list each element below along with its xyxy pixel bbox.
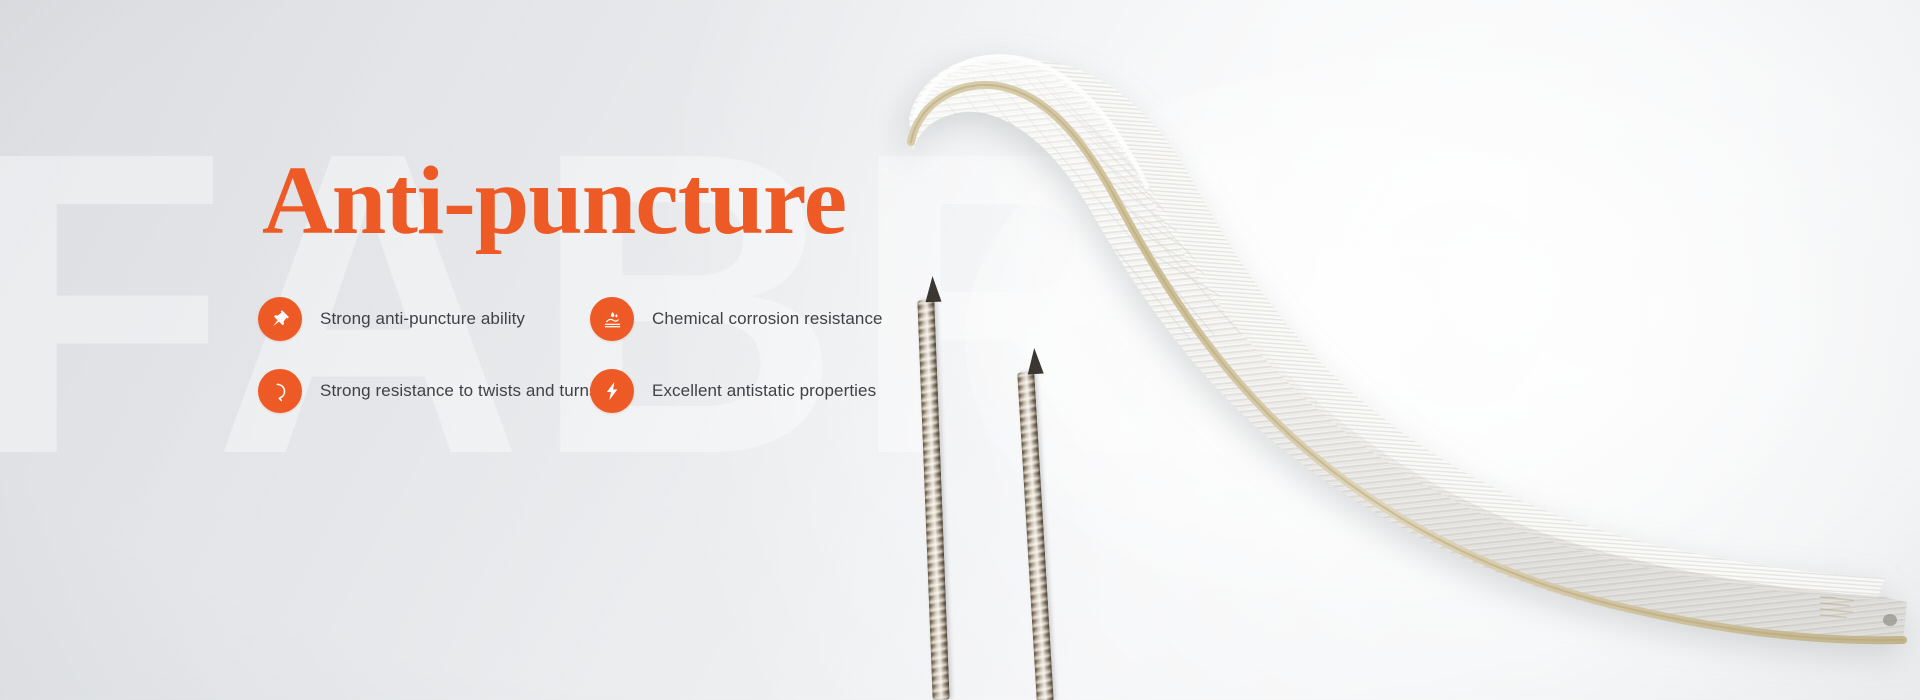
lightning-bolt-icon (590, 369, 634, 413)
feature-label: Strong anti-puncture ability (320, 309, 525, 329)
product-image (845, 0, 1920, 700)
pushpin-icon (258, 297, 302, 341)
feature-item: Strong resistance to twists and turns (258, 355, 590, 427)
sole-top-highlight (915, 57, 1147, 186)
feature-list: Strong anti-puncture ability Chemical co… (258, 283, 938, 427)
woven-sole (845, 0, 1920, 700)
sole-body (909, 55, 1907, 641)
sole-print-marking (1820, 596, 1854, 618)
feature-label: Chemical corrosion resistance (652, 309, 883, 329)
sole-fan-lines (941, 70, 1517, 480)
feature-item: Excellent antistatic properties (590, 355, 922, 427)
page-title: Anti-puncture (262, 152, 846, 252)
feature-item: Chemical corrosion resistance (590, 283, 922, 355)
product-glow (965, 60, 1845, 620)
sole-tail-weave (1315, 350, 1851, 578)
nail-right-tip (1026, 348, 1044, 375)
rotate-arrow-icon (258, 369, 302, 413)
sole-edge-line (911, 85, 1903, 640)
sole-shading (909, 55, 1907, 641)
sole-edge-binding (911, 85, 1903, 640)
sole-svg (845, 0, 1920, 700)
sole-upper (911, 60, 1885, 600)
feature-item: Strong anti-puncture ability (258, 283, 590, 355)
sole-eyelet (1883, 614, 1897, 626)
chemical-drop-icon (590, 297, 634, 341)
feature-label: Excellent antistatic properties (652, 381, 876, 401)
nail-right (1017, 372, 1054, 700)
feature-label: Strong resistance to twists and turns (320, 381, 598, 401)
anti-puncture-banner: FABRIC (0, 0, 1920, 700)
